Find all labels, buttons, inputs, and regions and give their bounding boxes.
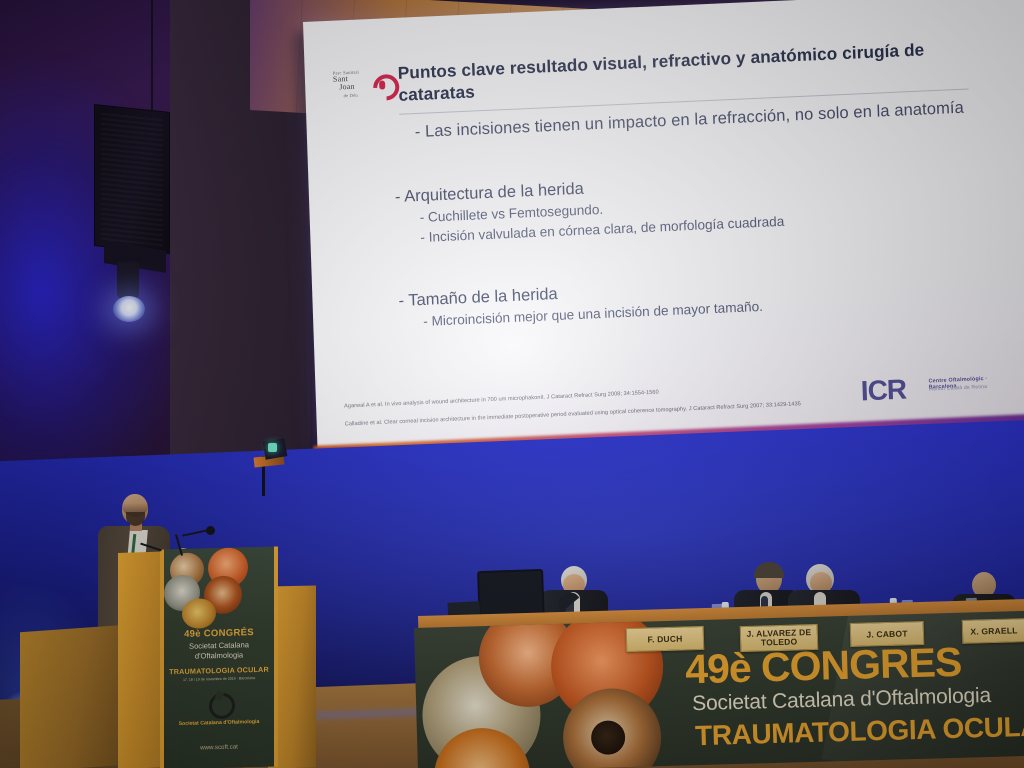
podium-website: www.scoft.cat xyxy=(164,743,274,753)
nameplate-j-cabot: J. CABOT xyxy=(850,621,925,647)
nameplate-j-alvarez-de-toledo: J. ALVAREZ DE TOLEDO xyxy=(740,624,819,652)
nameplate-f-duch: F. DUCH xyxy=(626,626,705,652)
org-logo-line3: Joan xyxy=(339,84,355,91)
nameplate-x-graell: X. GRAELL xyxy=(962,618,1024,644)
icr-tagline-2: Institut Català de Retina xyxy=(929,384,988,393)
slide-bullet-list: - Las incisiones tienen un impacto en la… xyxy=(392,95,999,333)
spotlight-body xyxy=(117,262,139,298)
stage-light-lens-icon xyxy=(268,443,277,452)
podium-society-footer: Societat Catalana d'Oftalmologia xyxy=(164,719,274,728)
slide-title: Puntos clave resultado visual, refractiv… xyxy=(397,36,978,106)
org-logo-line4: de Déu xyxy=(343,93,358,100)
icr-sponsor-logo: ICR Centre Oftalmològic · Barcelona Inst… xyxy=(860,369,1011,410)
podium-eye-collage xyxy=(160,546,278,621)
ceiling-speaker-icon xyxy=(94,104,170,254)
sant-joan-de-deu-mark-icon xyxy=(373,74,392,95)
podium-dates: 17, 18 i 19 de novembre de 2019 · Barcel… xyxy=(164,676,274,683)
podium-theme: TRAUMATOLOGIA OCULAR xyxy=(164,665,274,677)
microphone-icon xyxy=(206,526,215,535)
podium-congress-title: 49è CONGRÉS xyxy=(164,627,274,641)
scoft-logo-icon xyxy=(209,693,235,720)
podium-society: Societat Catalana d'Oftalmologia xyxy=(164,640,274,663)
podium-banner: 49è CONGRÉS Societat Catalana d'Oftalmol… xyxy=(160,546,278,768)
speaker-cable xyxy=(151,0,153,112)
projection-screen: Parc Sanitari Sant Joan de Déu Puntos cl… xyxy=(303,0,1024,477)
bullet-item: - Las incisiones tienen un impacto en la… xyxy=(414,95,992,144)
panel-table-banner: 49è CONGRES Societat Catalana d'Oftalmol… xyxy=(414,610,1024,768)
spotlight-icon xyxy=(113,296,145,322)
slide-org-logo: Parc Sanitari Sant Joan de Déu xyxy=(333,66,394,105)
slide-surface: Parc Sanitari Sant Joan de Déu Puntos cl… xyxy=(303,0,1024,454)
icr-wordmark: ICR xyxy=(860,374,906,408)
auditorium-photo: Parc Sanitari Sant Joan de Déu Puntos cl… xyxy=(0,0,1024,768)
